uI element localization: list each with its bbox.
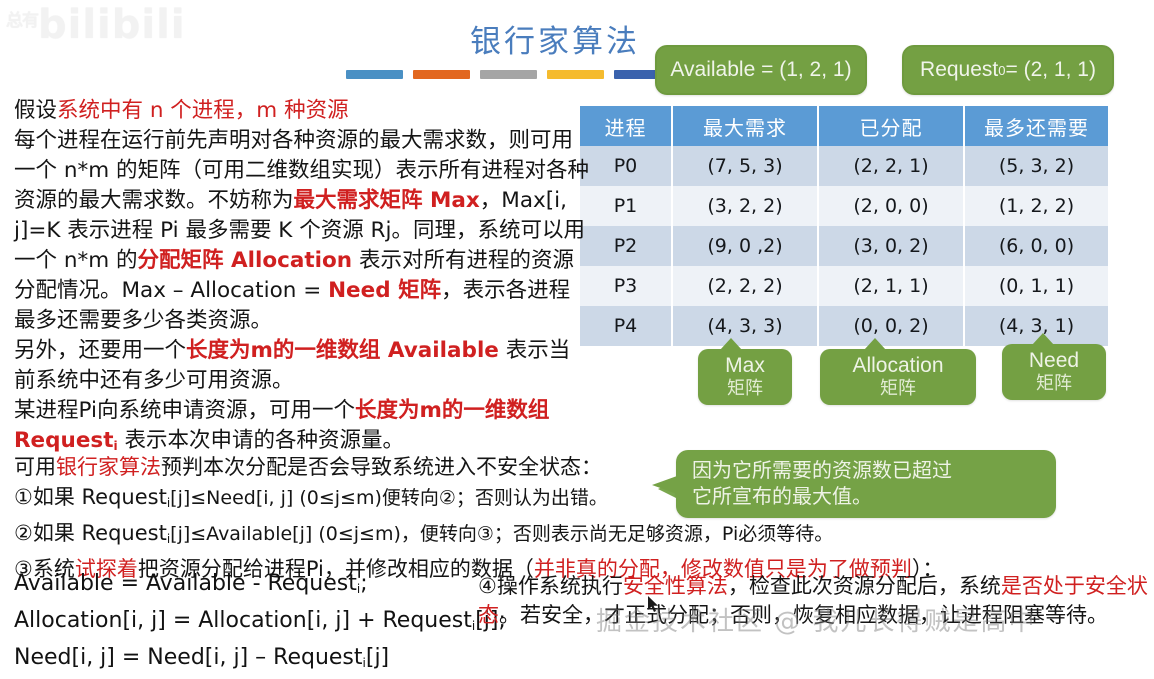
cell-allocation: (2, 0, 0) xyxy=(818,186,964,226)
formula-available-b: ; xyxy=(360,571,367,596)
cell-need: (0, 1, 1) xyxy=(964,266,1108,306)
accent-bar-orange xyxy=(413,70,470,79)
para-allocation-highlight: 分配矩阵 Allocation xyxy=(138,248,353,273)
bilibili-watermark-logo: bilibili xyxy=(38,2,186,48)
juejin-watermark: 掘金技术社区 @ 我儿长得贼是高中 xyxy=(596,601,1037,638)
step4-highlight-1: 安全性算法 xyxy=(623,574,728,598)
para-l7-plain: 某进程Pi向系统申请资源，可用一个 xyxy=(14,398,355,423)
cell-need: (5, 3, 2) xyxy=(964,146,1108,186)
para-l6-plain: 另外，还要用一个 xyxy=(14,338,186,363)
para-available-highlight: 长度为m的一维数组 Available xyxy=(186,338,499,363)
callout-max-sublabel: 矩阵 xyxy=(708,378,782,398)
col-header-process: 进程 xyxy=(580,106,672,146)
steps-intro-highlight: 银行家算法 xyxy=(56,455,161,479)
cell-max: (9, 0 ,2) xyxy=(672,226,818,266)
para-l1-plain: 假设 xyxy=(14,98,57,123)
step-item-2: ②如果 Requesti[j]≤Available[j] (0≤j≤m)，便转向… xyxy=(14,518,1134,554)
cell-need: (1, 2, 2) xyxy=(964,186,1108,226)
cell-allocation: (0, 0, 2) xyxy=(818,306,964,346)
col-header-allocation: 已分配 xyxy=(818,106,964,146)
cell-need: (6, 0, 0) xyxy=(964,226,1108,266)
cell-max: (4, 3, 3) xyxy=(672,306,818,346)
callout-need-matrix: Need 矩阵 xyxy=(1002,344,1106,400)
para-max-matrix-highlight: 最大需求矩阵 Max xyxy=(294,188,480,213)
para-l1-highlight: 系统中有 n 个进程，m 种资源 xyxy=(57,98,349,123)
available-value-text: Available = (1, 2, 1) xyxy=(670,58,851,82)
formula-allocation-a: Allocation[i, j] = Allocation[i, j] + Re… xyxy=(14,608,472,633)
table-header-row: 进程 最大需求 已分配 最多还需要 xyxy=(580,106,1108,146)
request-value-text: = (2, 1, 1) xyxy=(1005,58,1095,82)
callout-max-label: Max xyxy=(708,354,782,378)
para-l7b-plain: 表示本次申请的各种资源量。 xyxy=(124,428,404,453)
cell-process: P0 xyxy=(580,146,672,186)
bilibili-watermark-prefix: 总有 xyxy=(6,11,38,31)
accent-bar-yellow xyxy=(547,70,604,79)
formula-allocation: Allocation[i, j] = Allocation[i, j] + Re… xyxy=(14,605,506,642)
explanation-bubble: 因为它所需要的资源数已超过 它所宣布的最大值。 xyxy=(676,450,1056,518)
step4-b: ，检查此次资源分配后，系统 xyxy=(728,574,1001,598)
callout-need-label: Need xyxy=(1012,349,1096,373)
cell-process: P1 xyxy=(580,186,672,226)
cell-allocation: (2, 2, 1) xyxy=(818,146,964,186)
mouse-cursor-icon xyxy=(648,596,660,614)
table-row: P4 (4, 3, 3) (0, 0, 2) (4, 3, 1) xyxy=(580,306,1108,346)
formula-need-b: [j] xyxy=(366,645,389,670)
cell-process: P2 xyxy=(580,226,672,266)
formula-available-a: Available = Available - Request xyxy=(14,571,357,596)
table-row: P2 (9, 0 ,2) (3, 0, 2) (6, 0, 0) xyxy=(580,226,1108,266)
table-row: P0 (7, 5, 3) (2, 2, 1) (5, 3, 2) xyxy=(580,146,1108,186)
step2-a: ②如果 Request xyxy=(14,521,167,545)
accent-bar-gray xyxy=(480,70,537,79)
cell-allocation: (3, 0, 2) xyxy=(818,226,964,266)
slide-canvas: 总有bilibili 银行家算法 Available = (1, 2, 1) R… xyxy=(0,0,1154,659)
callout-allocation-matrix: Allocation 矩阵 xyxy=(820,349,976,405)
step4-a: ④操作系统执行 xyxy=(478,574,623,598)
cell-max: (2, 2, 2) xyxy=(672,266,818,306)
request-label: Request xyxy=(920,58,998,82)
step1-b: [j]≤Need[i, j] (0≤j≤m)便转向②；否则认为出错。 xyxy=(170,487,608,509)
cell-max: (7, 5, 3) xyxy=(672,146,818,186)
available-value-box: Available = (1, 2, 1) xyxy=(655,45,867,95)
callout-allocation-sublabel: 矩阵 xyxy=(830,378,966,398)
callout-allocation-label: Allocation xyxy=(830,354,966,378)
step1-a: ①如果 Request xyxy=(14,485,167,509)
formula-available: Available = Available - Requesti; xyxy=(14,568,506,605)
steps-intro-b: 预判本次分配是否会导致系统进入不安全状态： xyxy=(161,455,602,479)
callout-max-matrix: Max 矩阵 xyxy=(698,349,792,405)
table-row: P3 (2, 2, 2) (2, 1, 1) (0, 1, 1) xyxy=(580,266,1108,306)
para-request-index: i xyxy=(114,439,118,453)
formula-need-a: Need[i, j] = Need[i, j] – Request xyxy=(14,645,363,670)
page-title: 银行家算法 xyxy=(470,16,640,61)
para-need-highlight: Need 矩阵 xyxy=(328,278,441,303)
step2-b: [j]≤Available[j] (0≤j≤m)，便转向③；否则表示尚无足够资源… xyxy=(170,523,833,545)
title-accent-bars xyxy=(346,70,671,79)
cell-allocation: (2, 1, 1) xyxy=(818,266,964,306)
cell-max: (3, 2, 2) xyxy=(672,186,818,226)
formula-need: Need[i, j] = Need[i, j] – Requesti[j] xyxy=(14,642,506,679)
col-header-max: 最大需求 xyxy=(672,106,818,146)
bilibili-watermark: 总有bilibili xyxy=(6,2,186,48)
col-header-need: 最多还需要 xyxy=(964,106,1108,146)
callout-need-sublabel: 矩阵 xyxy=(1012,373,1096,393)
cell-process: P3 xyxy=(580,266,672,306)
definition-paragraph: 假设系统中有 n 个进程，m 种资源 每个进程在运行前先声明对各种资源的最大需求… xyxy=(14,96,589,461)
resource-matrix-table: 进程 最大需求 已分配 最多还需要 P0 (7, 5, 3) (2, 2, 1)… xyxy=(580,106,1108,346)
request-value-box: Request0 = (2, 1, 1) xyxy=(902,45,1114,95)
cell-process: P4 xyxy=(580,306,672,346)
request-index: 0 xyxy=(998,63,1005,78)
table-row: P1 (3, 2, 2) (2, 0, 0) (1, 2, 2) xyxy=(580,186,1108,226)
update-formulas: Available = Available - Requesti; Alloca… xyxy=(14,568,506,679)
bubble-line-1: 因为它所需要的资源数已超过 xyxy=(692,457,1044,483)
bubble-line-2: 它所宣布的最大值。 xyxy=(692,483,1044,509)
accent-bar-blue xyxy=(346,70,403,79)
steps-intro-a: 可用 xyxy=(14,455,56,479)
